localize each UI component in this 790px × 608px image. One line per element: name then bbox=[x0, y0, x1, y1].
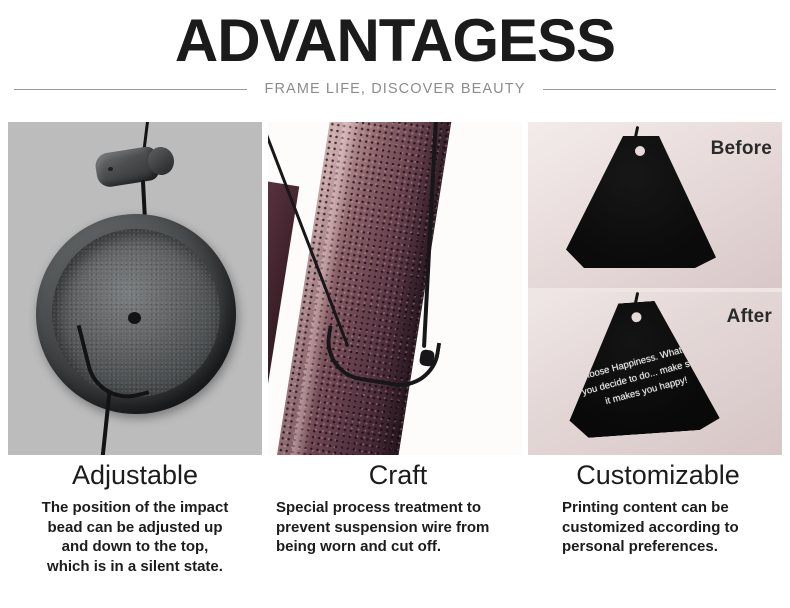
feature-craft: Craft Special process treatment to preve… bbox=[268, 458, 522, 576]
page-header: ADVANTAGESS FRAME LIFE, DISCOVER BEAUTY bbox=[0, 0, 790, 97]
tag-hole bbox=[631, 312, 642, 323]
tag-hole bbox=[635, 146, 645, 156]
tag-body bbox=[566, 136, 716, 268]
feature-title: Adjustable bbox=[8, 458, 262, 492]
tag-engraved-text: Choose Happiness. Whatever you decide to… bbox=[575, 338, 710, 415]
feature-caption-row: Adjustable The position of the impact be… bbox=[8, 458, 782, 576]
before-label: Before bbox=[711, 138, 772, 160]
engraved-tag: Choose Happiness. Whatever you decide to… bbox=[566, 302, 716, 434]
feature-title: Craft bbox=[268, 458, 522, 492]
feature-title: Customizable bbox=[528, 458, 782, 492]
subtitle-row: FRAME LIFE, DISCOVER BEAUTY bbox=[0, 81, 790, 97]
tag-body: Choose Happiness. Whatever you decide to… bbox=[562, 297, 721, 439]
page-title: ADVANTAGESS bbox=[0, 8, 790, 74]
feature-image-adjustable bbox=[8, 122, 262, 455]
feature-adjustable: Adjustable The position of the impact be… bbox=[8, 458, 262, 576]
divider-rule-left bbox=[14, 89, 247, 90]
feature-description: Printing content can be customized accor… bbox=[528, 498, 782, 557]
feature-description: Special process treatment to prevent sus… bbox=[268, 498, 522, 557]
after-label: After bbox=[727, 306, 772, 328]
feature-customizable: Customizable Printing content can be cus… bbox=[528, 458, 782, 576]
page-subtitle: FRAME LIFE, DISCOVER BEAUTY bbox=[247, 81, 544, 97]
feature-image-craft bbox=[268, 122, 522, 455]
before-photo: Before bbox=[528, 122, 782, 288]
feature-image-customizable: Before After Choose Happiness. Whatever … bbox=[528, 122, 782, 455]
divider-rule-right bbox=[543, 89, 776, 90]
after-photo: After Choose Happiness. Whatever you dec… bbox=[528, 292, 782, 455]
feature-description: The position of the impact bead can be a… bbox=[8, 498, 262, 576]
blank-tag bbox=[566, 136, 716, 268]
feature-image-row: Before After Choose Happiness. Whatever … bbox=[8, 122, 782, 455]
